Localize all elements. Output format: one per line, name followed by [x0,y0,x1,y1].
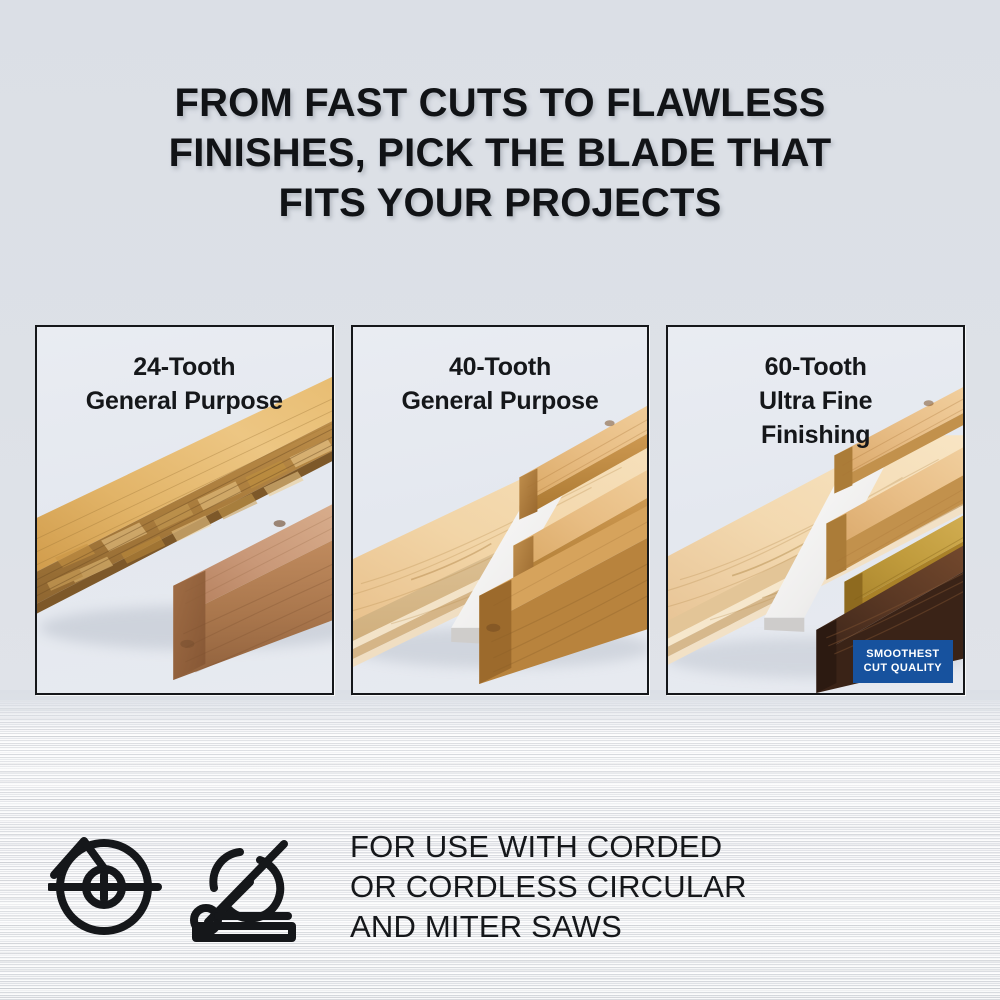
status-badge: SMOOTHEST CUT QUALITY [853,640,953,683]
headline-line-1: FROM FAST CUTS TO FLAWLESS [0,78,1000,128]
panel-60-tooth-title-line-3: Finishing [668,418,963,452]
panel-40-tooth-title-line-1: 40-Tooth [353,350,648,384]
footer-compatibility: FOR USE WITH CORDED OR CORDLESS CIRCULAR… [48,812,958,962]
panel-40-tooth-title: 40-Tooth General Purpose [353,350,648,418]
page-title: FROM FAST CUTS TO FLAWLESS FINISHES, PIC… [0,78,1000,228]
badge-line-1: SMOOTHEST [864,647,942,661]
footer-text: FOR USE WITH CORDED OR CORDLESS CIRCULAR… [350,827,747,947]
panel-24-tooth-title: 24-Tooth General Purpose [37,350,332,418]
miter-saw-icon [188,830,306,945]
headline-line-2: FINISHES, PICK THE BLADE THAT [0,128,1000,178]
panel-40-tooth-title-line-2: General Purpose [353,384,648,418]
panel-60-tooth[interactable]: 60-Tooth Ultra Fine Finishing [666,325,965,695]
headline-line-3: FITS YOUR PROJECTS [0,178,1000,228]
circular-saw-icon [48,831,166,943]
panel-60-tooth-title: 60-Tooth Ultra Fine Finishing [668,350,963,452]
panel-60-tooth-title-line-1: 60-Tooth [668,350,963,384]
panel-24-tooth-title-line-1: 24-Tooth [37,350,332,384]
panel-40-tooth[interactable]: 40-Tooth General Purpose [351,325,650,695]
footer-line-2: OR CORDLESS CIRCULAR [350,867,747,907]
panel-24-tooth[interactable]: 24-Tooth General Purpose [35,325,334,695]
panel-24-tooth-title-line-2: General Purpose [37,384,332,418]
footer-line-1: FOR USE WITH CORDED [350,827,747,867]
panel-60-tooth-title-line-2: Ultra Fine [668,384,963,418]
footer-line-3: AND MITER SAWS [350,907,747,947]
badge-line-2: CUT QUALITY [864,661,942,675]
blade-comparison-panels: 24-Tooth General Purpose [35,325,965,695]
background-fade [0,690,1000,730]
